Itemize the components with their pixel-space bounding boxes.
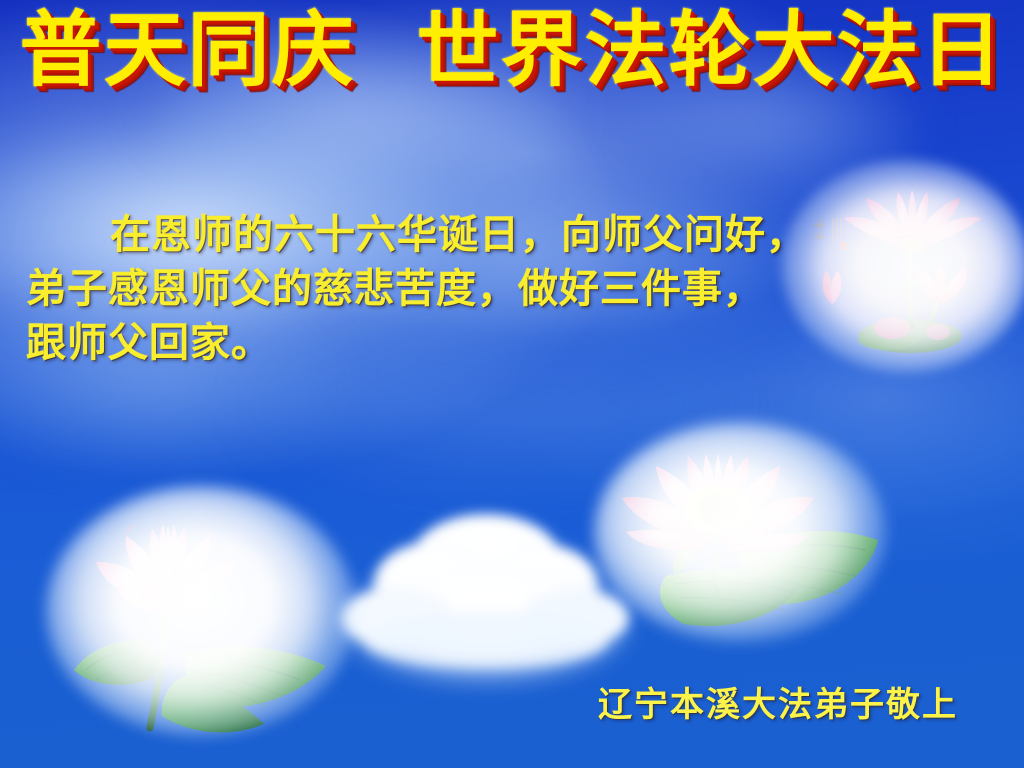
inset-lotus-artwork — [788, 168, 1024, 364]
title-banner: 普天同庆 世界法轮大法日 — [0, 8, 1024, 95]
message-line-3: 跟师父回家。 — [26, 316, 816, 370]
lotus-left-artwork — [38, 480, 378, 768]
lotus-painting-inset — [788, 168, 1024, 364]
lotus-center-artwork — [570, 418, 900, 688]
message-line-2: 弟子感恩师父的慈悲苦度，做好三件事， — [26, 262, 816, 316]
lotus-bloom-center — [622, 454, 814, 552]
message-block: 在恩师的六十六华诞日，向师父问好， 弟子感恩师父的慈悲苦度，做好三件事， 跟师父… — [26, 208, 816, 370]
card-title: 普天同庆 世界法轮大法日 — [19, 8, 1004, 95]
lotus-center — [570, 418, 900, 688]
signature-text: 辽宁本溪大法弟子敬上 — [598, 685, 958, 725]
greeting-card-canvas: 普天同庆 世界法轮大法日 在恩师的六十六华诞日，向师父问好， 弟子感恩师父的慈悲… — [0, 0, 1024, 768]
message-line-1: 在恩师的六十六华诞日，向师父问好， — [26, 208, 816, 262]
inset-calligraphy-marks — [814, 218, 842, 242]
inset-red-seal — [840, 242, 847, 250]
lotus-bloom-left — [96, 524, 236, 614]
lotus-bottom-left — [38, 480, 378, 768]
signature-block: 辽宁本溪大法弟子敬上 — [598, 677, 958, 726]
leaf-left — [74, 640, 157, 685]
